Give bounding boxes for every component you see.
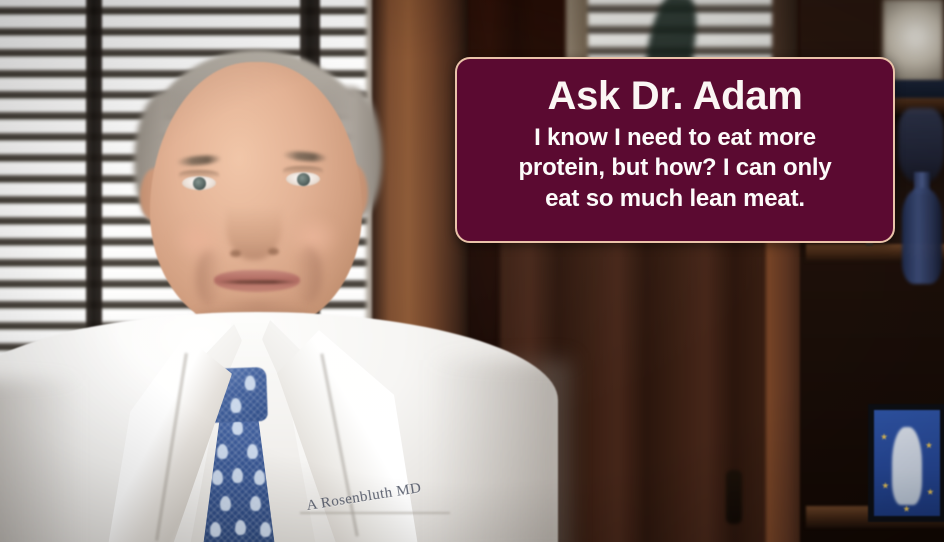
- necktie-motif: [210, 522, 221, 537]
- necktie-motif: [250, 496, 261, 511]
- nostril-left: [230, 250, 241, 257]
- necktie-motif: [217, 444, 228, 459]
- necktie-motif: [232, 420, 243, 435]
- video-frame: A Rosenbluth MD Ask Dr. Adam I know I ne…: [0, 0, 944, 542]
- lab-coat-shadow-right: [430, 360, 570, 542]
- iris-left: [193, 177, 206, 190]
- necktie-motif: [254, 470, 265, 485]
- eyelid-right: [283, 166, 323, 174]
- necktie-motif: [260, 522, 271, 537]
- necktie-motif: [212, 470, 223, 485]
- necktie-motif: [244, 375, 256, 390]
- smile-line-right: [294, 246, 322, 304]
- lab-coat-shadow-left: [0, 380, 80, 542]
- caption-question: I know I need to eat more protein, but h…: [518, 123, 831, 214]
- necktie-motif: [232, 468, 243, 483]
- caption-question-line: eat so much lean meat.: [518, 184, 831, 214]
- lip-line: [214, 280, 300, 284]
- nostril-right: [268, 248, 279, 255]
- caption-title: Ask Dr. Adam: [547, 75, 802, 117]
- necktie-motif: [235, 520, 246, 535]
- caption-card: Ask Dr. Adam I know I need to eat more p…: [455, 57, 895, 243]
- necktie-motif: [230, 398, 242, 413]
- caption-question-line: I know I need to eat more: [518, 123, 831, 153]
- iris-right: [297, 173, 310, 186]
- lab-coat-pocket: [300, 512, 450, 542]
- eyelid-left: [179, 170, 219, 178]
- necktie-motif: [220, 496, 231, 511]
- necktie-motif: [247, 444, 258, 459]
- caption-question-line: protein, but how? I can only: [518, 153, 831, 183]
